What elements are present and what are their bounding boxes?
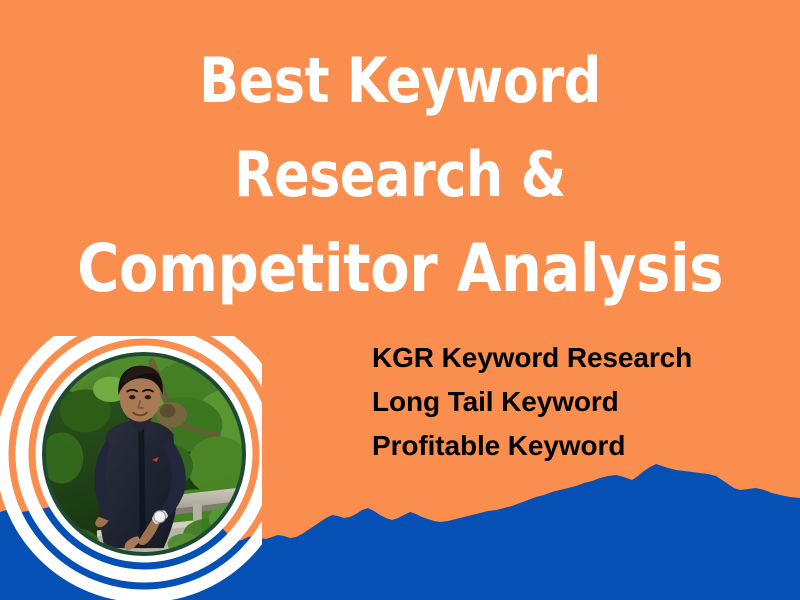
feature-item-1: KGR Keyword Research — [372, 336, 792, 380]
feature-item-2: Long Tail Keyword — [372, 380, 792, 424]
avatar-photo — [46, 356, 242, 552]
feature-item-3: Profitable Keyword — [372, 424, 792, 468]
headline-line-1: Best Keyword — [24, 34, 776, 128]
page-title: Best Keyword Research & Competitor Analy… — [0, 34, 800, 316]
avatar-group — [0, 336, 262, 600]
headline-line-3: Competitor Analysis — [12, 222, 788, 316]
feature-list: KGR Keyword Research Long Tail Keyword P… — [372, 336, 792, 468]
promo-banner: Best Keyword Research & Competitor Analy… — [0, 0, 800, 600]
avatar — [42, 352, 246, 556]
headline-line-2: Research & — [24, 128, 776, 222]
